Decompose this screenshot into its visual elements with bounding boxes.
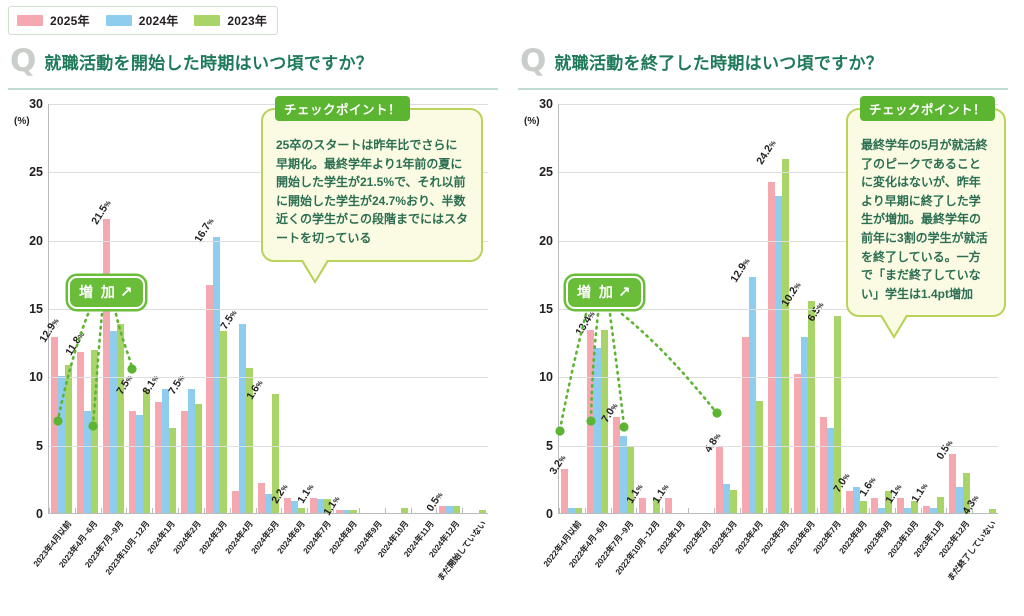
question-mark-icon: Q <box>10 46 36 77</box>
bar-2023年-2023年10月~12月 <box>143 389 150 513</box>
y-axis-tick: 25 <box>539 165 553 179</box>
bar-2025年-2023年4月以前 <box>51 337 58 513</box>
x-axis-tick <box>559 508 560 513</box>
gridline <box>49 446 488 447</box>
bar-2024年-2022年4月以前 <box>568 508 575 513</box>
y-axis-tick: 5 <box>546 439 553 453</box>
x-axis-tick <box>972 508 973 513</box>
x-axis-tick <box>204 508 205 513</box>
x-axis-tick <box>921 508 922 513</box>
legend: 2025年 2024年 2023年 <box>8 6 278 35</box>
increase-badge-label-right: 増 加 <box>577 282 615 302</box>
bar-2025年-2023年9月 <box>871 498 878 513</box>
bar-2023年-2024年6月 <box>298 508 305 513</box>
bar-2025年-2023年4月~6月 <box>77 352 84 513</box>
bar-2024年-2024年4月 <box>239 324 246 513</box>
bar-2023年-2024年3月 <box>220 331 227 513</box>
x-axis-tick <box>411 508 412 513</box>
x-axis-tick <box>462 508 463 513</box>
x-axis-tick <box>359 508 360 513</box>
bar-2024年-2023年3月 <box>723 484 730 513</box>
x-axis-tick <box>843 508 844 513</box>
bar-2025年-2024年4月 <box>232 491 239 513</box>
gridline <box>559 377 998 378</box>
bar-2023年-2024年12月 <box>453 506 460 513</box>
legend-swatch-2023 <box>194 15 220 26</box>
bar-2025年-2023年8月 <box>846 491 853 513</box>
callout-text-right: 最終学年の5月が就活終了のピークであることに変化はないが、昨年より早期に終了した… <box>861 136 991 303</box>
x-axis-tick <box>766 508 767 513</box>
x-axis-tick <box>895 508 896 513</box>
bar-2023年-2023年3月 <box>730 490 737 513</box>
y-axis-unit-right: (%) <box>524 116 540 127</box>
bar-2023年-まだ開始していない <box>479 510 486 513</box>
bar-2024年-2023年7月 <box>827 428 834 513</box>
increase-badge-left: 増 加 ↗ <box>68 276 145 309</box>
x-axis-tick <box>740 508 741 513</box>
bar-2023年-2023年11月 <box>937 497 944 513</box>
y-axis-tick: 0 <box>546 507 553 521</box>
bar-2023年-2023年4月 <box>756 401 763 513</box>
bar-2025年-2023年4月 <box>742 337 749 513</box>
y-axis-tick: 10 <box>539 370 553 384</box>
x-axis-tick <box>636 508 637 513</box>
bar-2023年-2022年4月以前 <box>575 508 582 513</box>
callout-text-left: 25卒のスタートは昨年比でさらに早期化。最終学年より1年前の夏に開始した学生が2… <box>276 136 468 248</box>
legend-swatch-2025 <box>17 15 43 26</box>
bar-2025年-2023年11月 <box>923 506 930 513</box>
y-axis-tick: 25 <box>29 165 43 179</box>
bar-2025年-2023年3月 <box>716 447 723 513</box>
bar-2023年-2023年7月~9月 <box>117 324 124 513</box>
callout-tail-left <box>303 260 327 280</box>
legend-item-2025: 2025年 <box>17 12 90 29</box>
bar-2023年-2023年6月 <box>808 301 815 513</box>
callout-title-left: チェックポイント！ <box>275 96 410 121</box>
x-axis-tick <box>714 508 715 513</box>
y-axis-tick: 15 <box>539 302 553 316</box>
bar-2024年-2024年12月 <box>446 506 453 513</box>
page-title-left: 就職活動を開始した時期はいつ頃ですか？ <box>44 49 373 74</box>
bar-2023年-2024年10月 <box>401 508 408 513</box>
bar-2023年-2024年8月 <box>350 510 357 513</box>
y-axis-tick: 10 <box>29 370 43 384</box>
bar-2025年-2022年10月~12月 <box>639 498 646 513</box>
legend-label-2024: 2024年 <box>139 12 179 29</box>
legend-label-2023: 2023年 <box>227 12 267 29</box>
x-axis-tick <box>75 508 76 513</box>
x-axis-tick <box>385 508 386 513</box>
bar-2025年-2023年7月 <box>820 417 827 513</box>
arrow-up-right-icon: ↗ <box>120 283 135 301</box>
legend-item-2023: 2023年 <box>194 12 267 29</box>
bar-2024年-2024年3月 <box>213 237 220 513</box>
bar-2024年-2023年10月~12月 <box>136 415 143 513</box>
increase-badge-right: 増 加 ↗ <box>566 276 643 309</box>
x-axis-tick <box>49 508 50 513</box>
bar-2023年-2023年4月以前 <box>65 365 72 513</box>
bar-2023年-2023年4月~6月 <box>91 350 98 513</box>
callout-right: チェックポイント！ 最終学年の5月が就活終了のピークであることに変化はないが、昨… <box>846 108 1006 317</box>
bar-2024年-2023年5月 <box>775 196 782 513</box>
bar-2025年-2022年4月~6月 <box>587 330 594 513</box>
gridline <box>49 309 488 310</box>
bar-2025年-2023年1月 <box>665 498 672 513</box>
x-axis-tick <box>256 508 257 513</box>
bar-2023年-まだ終了していない <box>989 509 996 513</box>
y-axis-tick: 20 <box>29 234 43 248</box>
bar-2024年-2024年2月 <box>188 389 195 513</box>
bar-2023年-2024年2月 <box>195 404 202 513</box>
gridline <box>559 446 998 447</box>
bar-2023年-2024年1月 <box>169 428 176 513</box>
callout-tail-right <box>882 315 906 335</box>
y-axis-tick: 5 <box>36 439 43 453</box>
bar-2025年-2024年2月 <box>181 411 188 514</box>
x-axis-tick <box>178 508 179 513</box>
legend-item-2024: 2024年 <box>106 12 179 29</box>
bar-2025年-2024年1月 <box>155 402 162 513</box>
bar-2025年-2022年4月以前 <box>561 469 568 513</box>
bar-2024年-2023年10月 <box>904 508 911 513</box>
callout-box-left: 25卒のスタートは昨年比でさらに早期化。最終学年より1年前の夏に開始した学生が2… <box>261 108 483 262</box>
bar-2024年-2022年4月~6月 <box>594 348 601 513</box>
x-axis-tick <box>817 508 818 513</box>
gridline <box>49 377 488 378</box>
question-header-left: Q 就職活動を開始した時期はいつ頃ですか？ <box>6 40 500 82</box>
y-axis-unit-left: (%) <box>14 116 30 127</box>
bar-2024年-2024年6月 <box>291 501 298 513</box>
gridline <box>49 104 488 105</box>
x-axis-tick <box>281 508 282 513</box>
x-axis-tick <box>662 508 663 513</box>
bar-2024年-2023年7月~9月 <box>110 331 117 513</box>
bar-2025年-2023年12月 <box>949 454 956 513</box>
x-axis-tick <box>946 508 947 513</box>
question-mark-icon: Q <box>520 46 546 77</box>
x-axis-tick <box>152 508 153 513</box>
x-axis-tick <box>126 508 127 513</box>
x-axis-tick <box>230 508 231 513</box>
x-axis-tick <box>869 508 870 513</box>
x-axis-tick <box>307 508 308 513</box>
panel-start-timing: Q 就職活動を開始した時期はいつ頃ですか？ (%) 12.9%11.8%21.5… <box>6 40 500 616</box>
y-axis-tick: 15 <box>29 302 43 316</box>
callout-box-right: 最終学年の5月が就活終了のピークであることに変化はないが、昨年より早期に終了した… <box>846 108 1006 317</box>
bar-2025年-2024年6月 <box>284 498 291 513</box>
bar-2024年-2024年1月 <box>162 389 169 513</box>
bar-2023年-2023年5月 <box>782 159 789 513</box>
bar-2025年-2024年7月 <box>310 498 317 513</box>
bar-2024年-2023年6月 <box>801 337 808 513</box>
bar-2024年-2023年4月~6月 <box>84 411 91 514</box>
callout-left: チェックポイント！ 25卒のスタートは昨年比でさらに早期化。最終学年より1年前の… <box>261 108 483 262</box>
increase-badge-label-left: 増 加 <box>79 282 117 302</box>
callout-title-right: チェックポイント！ <box>860 96 995 121</box>
bar-2025年-2024年8月 <box>336 510 343 513</box>
question-header-right: Q 就職活動を終了した時期はいつ頃ですか？ <box>516 40 1010 82</box>
panel-end-timing: Q 就職活動を終了した時期はいつ頃ですか？ (%) 3.2%13.4%7.0%1… <box>516 40 1010 616</box>
y-axis-tick: 30 <box>29 97 43 111</box>
y-axis-tick: 20 <box>539 234 553 248</box>
bar-2025年-2023年10月~12月 <box>129 411 136 514</box>
bar-2024年-2023年11月 <box>930 508 937 513</box>
x-axis-tick <box>333 508 334 513</box>
bar-2025年-2024年5月 <box>258 483 265 513</box>
bar-2024年-2023年4月 <box>749 277 756 513</box>
x-axis-tick <box>585 508 586 513</box>
chart-end-timing: (%) 3.2%13.4%7.0%1.1%1.1%4.8%12.9%24.2%1… <box>516 90 1010 590</box>
x-axis-labels-right: 2022年4月以前2022年4月~6月2022年7月~9月2022年10月~12… <box>558 514 998 594</box>
bar-2024年-2022年7月~9月 <box>620 436 627 513</box>
bar-2024年-2023年9月 <box>878 508 885 513</box>
x-axis-tick <box>791 508 792 513</box>
legend-swatch-2024 <box>106 15 132 26</box>
bar-2025年-2023年10月 <box>897 498 904 513</box>
y-axis-tick: 0 <box>36 507 43 521</box>
bar-2025年-2022年7月~9月 <box>613 417 620 513</box>
y-axis-tick: 30 <box>539 97 553 111</box>
bar-2023年-2023年8月 <box>860 501 867 513</box>
bar-2024年-2024年8月 <box>343 510 350 513</box>
x-axis-tick <box>101 508 102 513</box>
bar-2025年-2024年12月 <box>439 506 446 513</box>
bar-2025年-2023年5月 <box>768 182 775 513</box>
bar-2025年-2024年3月 <box>206 285 213 513</box>
x-axis-labels-left: 2023年4月以前2023年4月~6月2023年7月~9月2023年10月~12… <box>48 514 488 594</box>
arrow-up-right-icon: ↗ <box>618 283 633 301</box>
chart-start-timing: (%) 12.9%11.8%21.5%7.5%8.1%7.5%16.7%7.5%… <box>6 90 500 590</box>
bar-2025年-2023年7月~9月 <box>103 219 110 513</box>
page-title-right: 就職活動を終了した時期はいつ頃ですか？ <box>554 49 883 74</box>
x-axis-tick <box>688 508 689 513</box>
x-axis-tick <box>611 508 612 513</box>
legend-label-2025: 2025年 <box>50 12 90 29</box>
bar-2025年-2023年6月 <box>794 374 801 513</box>
x-axis-tick <box>436 508 437 513</box>
